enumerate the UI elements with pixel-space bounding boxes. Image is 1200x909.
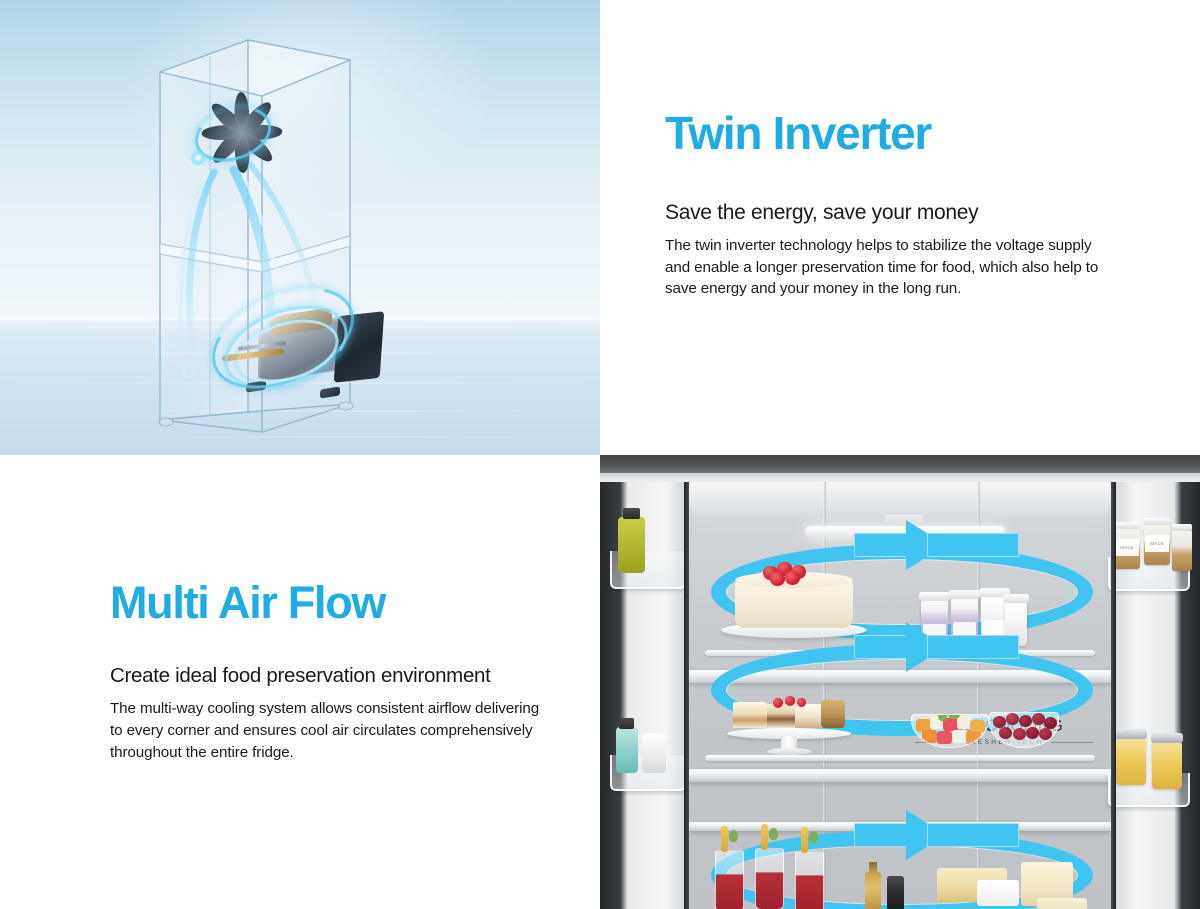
spice-jar: SPICE <box>1144 523 1170 565</box>
shelf-rail <box>705 755 1095 761</box>
twin-inverter-copy: Twin Inverter Save the energy, save your… <box>665 110 1135 300</box>
white-carton <box>642 733 666 773</box>
honey-jar <box>1152 741 1182 789</box>
fruit-salad-bowl <box>911 714 991 752</box>
twin-inverter-diagram-panel <box>0 0 600 455</box>
air-flow-arrow-tail <box>927 823 1019 847</box>
cabinet-top-lip <box>600 473 1200 482</box>
twin-inverter-text-panel: Twin Inverter Save the energy, save your… <box>600 0 1200 455</box>
right-door-gap <box>1111 455 1116 909</box>
red-juice-glasses <box>713 842 853 909</box>
product-feature-page: Twin Inverter Save the energy, save your… <box>0 0 1200 909</box>
right-door-bin-lower <box>1108 773 1190 807</box>
multi-air-flow-subhead: Create ideal food preservation environme… <box>110 663 580 689</box>
fridge-interior-photo-panel: 360° COOLING FRESHER TECH <box>600 455 1200 909</box>
fridge-cavity: 360° COOLING FRESHER TECH <box>689 482 1111 909</box>
compressor-foot <box>320 386 340 398</box>
multi-air-flow-body: The multi-way cooling system allows cons… <box>110 698 550 763</box>
multi-air-flow-copy: Multi Air Flow Create ideal food preserv… <box>110 580 580 763</box>
left-door-bin-upper <box>610 551 686 589</box>
twin-inverter-headline: Twin Inverter <box>665 110 1135 158</box>
spice-jar <box>1172 529 1192 571</box>
shelf-middle <box>689 769 1111 782</box>
left-door-gap <box>684 455 689 909</box>
condiment-bottles <box>865 864 925 909</box>
air-flow-arrow-tail <box>927 635 1019 659</box>
green-sauce-bottle <box>618 517 645 573</box>
twin-inverter-subhead: Save the energy, save your money <box>665 200 1135 226</box>
grapes-bowl <box>989 712 1061 752</box>
cheesecake-with-strawberries <box>721 564 867 642</box>
wireframe-refrigerator <box>150 22 430 442</box>
cabinet-top-frame <box>600 455 1200 473</box>
right-door-bin-upper: SPICE SPICE <box>1108 557 1190 591</box>
teal-bottle <box>616 727 638 773</box>
twin-inverter-body: The twin inverter technology helps to st… <box>665 235 1120 300</box>
spice-jar: SPICE <box>1114 527 1140 569</box>
fan-glow-spark <box>190 150 206 166</box>
multi-air-flow-headline: Multi Air Flow <box>110 580 580 627</box>
left-door <box>600 455 692 909</box>
cake-slices-on-stand <box>727 698 851 756</box>
cheese-blocks <box>937 858 1087 909</box>
multi-air-flow-text-panel: Multi Air Flow Create ideal food preserv… <box>0 455 600 909</box>
left-door-bin-lower <box>610 755 686 791</box>
air-flow-arrow-tail <box>927 533 1019 557</box>
honey-jar <box>1116 737 1146 785</box>
